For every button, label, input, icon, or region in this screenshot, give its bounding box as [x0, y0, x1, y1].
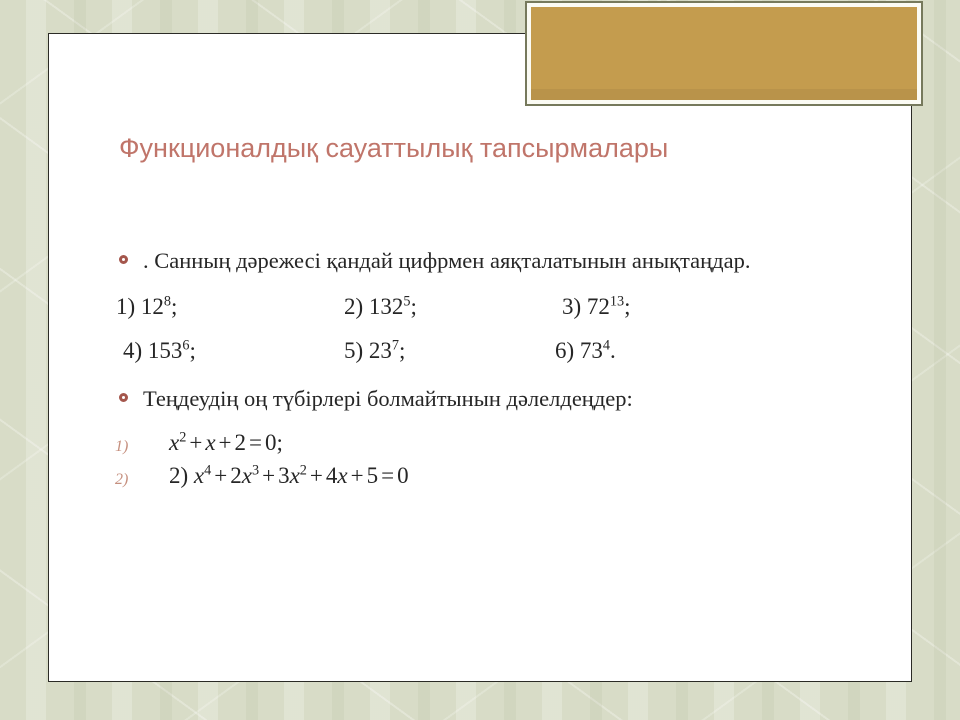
- gold-decorative-banner: [525, 1, 923, 106]
- exponent: 7: [392, 337, 399, 353]
- task2-bullet-item: Теңдеудің оң түбірлері болмайтынын дәлел…: [111, 384, 871, 414]
- spacer: [111, 276, 871, 292]
- exponent: 4: [603, 337, 610, 353]
- equation-1-formula: x2+x+2=0;: [169, 430, 283, 455]
- ring-bullet-icon: [119, 255, 128, 264]
- task1-bullet-item: . Санның дәрежесі қандай цифрмен аяқтала…: [111, 246, 871, 276]
- equation-2-formula: 2) x4+2x3+3x2+4x+5=0: [169, 463, 409, 488]
- list-marker-2: 2): [115, 463, 128, 496]
- page-title: Функционалдық сауаттылық тапсырмалары: [119, 131, 668, 165]
- power-item-5: 5) 237;: [344, 336, 555, 366]
- power-item-6: 6) 734.: [555, 336, 755, 366]
- slide-content-card: Функционалдық сауаттылық тапсырмалары . …: [48, 33, 912, 682]
- power-item-3: 3) 7213;: [562, 292, 762, 322]
- content-body: . Санның дәрежесі қандай цифрмен аяқтала…: [111, 246, 871, 492]
- spacer: [111, 322, 871, 336]
- task1-text: . Санның дәрежесі қандай цифрмен аяқтала…: [143, 248, 750, 273]
- power-item-1: 1) 128;: [116, 292, 344, 322]
- power-item-4: 4) 1536;: [123, 336, 344, 366]
- ring-bullet-icon: [119, 393, 128, 402]
- powers-row-2: 4) 1536; 5) 237; 6) 734.: [111, 336, 871, 366]
- exponent: 13: [610, 293, 624, 309]
- exponent: 6: [182, 337, 189, 353]
- power-item-2: 2) 1325;: [344, 292, 562, 322]
- equation-row-2: 2) 2) x4+2x3+3x2+4x+5=0: [111, 459, 871, 492]
- spacer: [111, 366, 871, 384]
- exponent: 8: [164, 293, 171, 309]
- spacer: [111, 414, 871, 426]
- gold-banner-fill: [531, 7, 917, 100]
- equation-row-1: 1) x2+x+2=0;: [111, 426, 871, 459]
- slide-canvas: Функционалдық сауаттылық тапсырмалары . …: [0, 0, 960, 720]
- exponent: 5: [403, 293, 410, 309]
- task2-text: Теңдеудің оң түбірлері болмайтынын дәлел…: [143, 386, 633, 411]
- powers-row-1: 1) 128; 2) 1325; 3) 7213;: [111, 292, 871, 322]
